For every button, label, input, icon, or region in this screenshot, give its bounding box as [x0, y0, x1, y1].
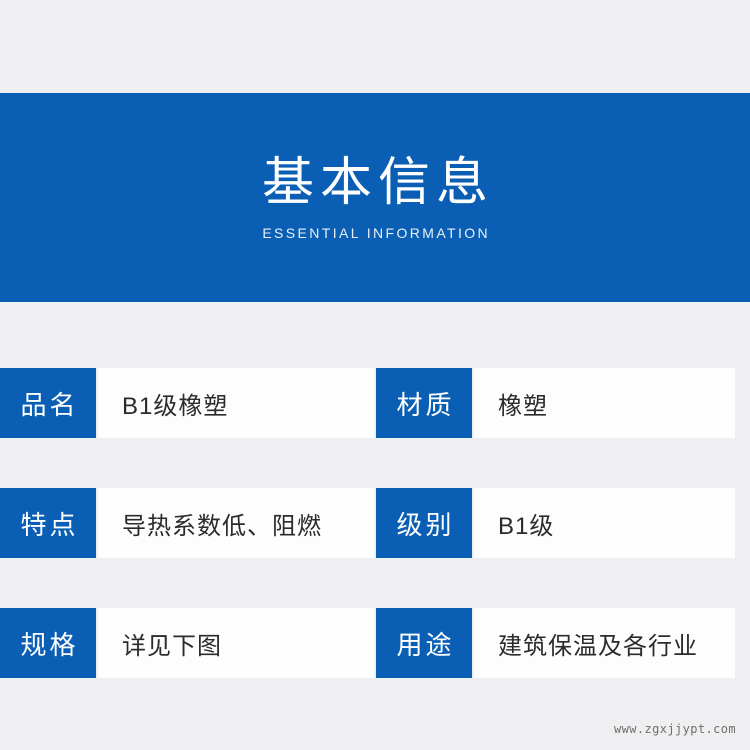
spec-pair-grade: 级别 B1级: [376, 488, 735, 558]
product-info-page: 基本信息 ESSENTIAL INFORMATION 品名 B1级橡塑 材质 橡…: [0, 0, 750, 750]
table-row: 品名 B1级橡塑 材质 橡塑: [0, 368, 750, 438]
specification-table: 品名 B1级橡塑 材质 橡塑 特点 导热系数低、阻燃 级别 B1级 规格 详见下: [0, 368, 750, 678]
spec-label-usage: 用途: [376, 608, 472, 678]
spec-label-material: 材质: [376, 368, 472, 438]
spec-value-usage: 建筑保温及各行业: [472, 608, 735, 678]
page-title: 基本信息: [256, 156, 494, 211]
table-row: 特点 导热系数低、阻燃 级别 B1级: [0, 488, 750, 558]
table-row: 规格 详见下图 用途 建筑保温及各行业: [0, 608, 750, 678]
site-watermark: www.zgxjjypt.com: [614, 722, 736, 736]
page-subtitle: ESSENTIAL INFORMATION: [260, 225, 490, 241]
spec-pair-features: 特点 导热系数低、阻燃: [0, 488, 374, 558]
spec-pair-specification: 规格 详见下图: [0, 608, 374, 678]
spec-value-features: 导热系数低、阻燃: [96, 488, 374, 558]
spec-label-features: 特点: [0, 488, 96, 558]
spec-pair-material: 材质 橡塑: [376, 368, 735, 438]
spec-label-name: 品名: [0, 368, 96, 438]
spec-value-specification: 详见下图: [96, 608, 374, 678]
spec-pair-usage: 用途 建筑保温及各行业: [376, 608, 735, 678]
spec-value-grade: B1级: [472, 488, 735, 558]
spec-value-material: 橡塑: [472, 368, 735, 438]
spec-value-name: B1级橡塑: [96, 368, 374, 438]
banner-header: 基本信息 ESSENTIAL INFORMATION: [0, 93, 750, 302]
spec-label-grade: 级别: [376, 488, 472, 558]
spec-pair-name: 品名 B1级橡塑: [0, 368, 374, 438]
spec-label-specification: 规格: [0, 608, 96, 678]
